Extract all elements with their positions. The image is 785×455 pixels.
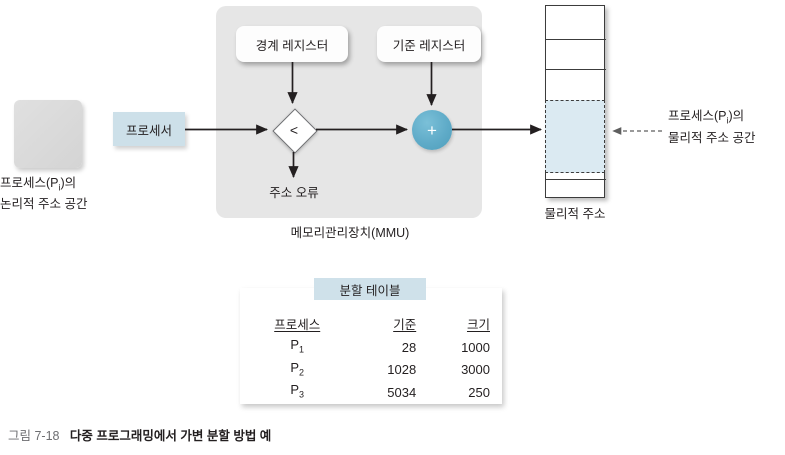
table-header-process: 프로세스 <box>252 314 342 336</box>
physical-address-space-label: 프로세스(Pi)의 물리적 주소 공간 <box>668 108 785 147</box>
compare-decision-node[interactable]: < <box>272 108 316 152</box>
logical-label-text-a: 프로세스(P <box>0 176 59 190</box>
cell-base: 5034 <box>342 381 416 404</box>
cell-size: 1000 <box>416 336 490 359</box>
figure-caption-number: 그림 7-18 <box>8 429 60 443</box>
logical-address-space-block <box>14 100 82 168</box>
physical-space-text-a: 프로세스(P <box>668 109 727 123</box>
cell-process: P3 <box>252 381 342 404</box>
cell-process-text: P <box>290 382 299 397</box>
memory-divider-1 <box>546 39 606 40</box>
logical-label-line1: 프로세스(Pi)의 <box>0 176 76 190</box>
figure-caption-text: 다중 프로그래밍에서 가변 분할 방법 예 <box>70 429 271 443</box>
adder-node[interactable]: + <box>412 110 452 150</box>
plus-glyph: + <box>427 122 437 139</box>
allocated-partition-highlight <box>545 100 605 173</box>
cell-process: P1 <box>252 336 342 359</box>
logical-label-text-b: )의 <box>61 176 77 190</box>
cell-process: P2 <box>252 359 342 382</box>
cell-process-subscript: 2 <box>299 367 304 377</box>
table-header-size: 크기 <box>416 314 490 336</box>
physical-address-label: 물리적 주소 <box>515 203 635 222</box>
table-row: P3 5034 250 <box>252 381 490 404</box>
limit-register-label: 경계 레지스터 <box>256 35 328 54</box>
physical-space-line2: 물리적 주소 공간 <box>668 131 755 145</box>
physical-memory-column <box>545 5 605 198</box>
less-than-glyph: < <box>272 108 316 152</box>
base-register-box[interactable]: 기준 레지스터 <box>377 26 481 62</box>
processor-box[interactable]: 프로세서 <box>113 112 185 146</box>
partition-table-grid: 프로세스 기준 크기 P1 28 1000 P2 1028 3000 P3 <box>252 314 490 404</box>
memory-divider-2 <box>546 69 606 70</box>
mmu-panel-label: 메모리관리장치(MMU) <box>250 222 450 241</box>
logical-label-line2: 논리적 주소 공간 <box>0 197 87 211</box>
table-row: P1 28 1000 <box>252 336 490 359</box>
physical-space-line1: 프로세스(Pi)의 <box>668 109 744 123</box>
memory-divider-3 <box>546 179 606 180</box>
limit-register-box[interactable]: 경계 레지스터 <box>236 26 348 62</box>
address-error-label: 주소 오류 <box>236 182 352 201</box>
partition-table-card: 분할 테이블 프로세스 기준 크기 P1 28 1000 P2 1028 <box>240 288 502 404</box>
table-header-base: 기준 <box>342 314 416 336</box>
table-header-row: 프로세스 기준 크기 <box>252 314 490 336</box>
cell-base: 28 <box>342 336 416 359</box>
cell-base: 1028 <box>342 359 416 382</box>
cell-process-text: P <box>290 337 299 352</box>
cell-size: 250 <box>416 381 490 404</box>
figure-caption: 그림 7-18 다중 프로그래밍에서 가변 분할 방법 예 <box>8 425 528 444</box>
cell-process-subscript: 3 <box>299 390 304 400</box>
cell-process-subscript: 1 <box>299 345 304 355</box>
physical-space-text-b: )의 <box>729 109 745 123</box>
logical-address-space-label: 프로세스(Pi)의 논리적 주소 공간 <box>0 175 125 212</box>
cell-size: 3000 <box>416 359 490 382</box>
base-register-label: 기준 레지스터 <box>393 35 465 54</box>
processor-label: 프로세서 <box>126 120 172 139</box>
partition-table-title: 분할 테이블 <box>314 278 426 300</box>
table-row: P2 1028 3000 <box>252 359 490 382</box>
cell-process-text: P <box>290 360 299 375</box>
